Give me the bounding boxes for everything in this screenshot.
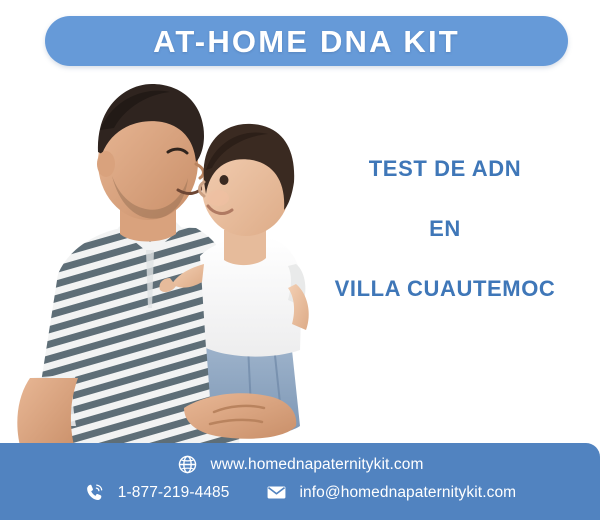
page-title: AT-HOME DNA KIT <box>153 26 460 57</box>
family-photo <box>0 78 320 453</box>
headline-line-2: EN <box>300 218 590 240</box>
website-contact[interactable]: www.homednapaternitykit.com <box>177 454 424 475</box>
headline-line-3: VILLA CUAUTEMOC <box>300 278 590 300</box>
email-label: info@homednapaternitykit.com <box>300 485 517 501</box>
email-contact[interactable]: info@homednapaternitykit.com <box>266 482 517 503</box>
footer-row-phone-email: 1-877-219-4485 info@homednapaternitykit.… <box>0 482 600 503</box>
poster-canvas: AT-HOME DNA KIT <box>0 0 600 520</box>
headline-block: TEST DE ADN EN VILLA CUAUTEMOC <box>300 158 590 300</box>
envelope-icon <box>266 482 287 503</box>
footer-bar: www.homednapaternitykit.com 1-877-219-44… <box>0 443 600 520</box>
phone-contact[interactable]: 1-877-219-4485 <box>84 482 230 503</box>
phone-icon <box>84 482 105 503</box>
phone-label: 1-877-219-4485 <box>118 485 230 501</box>
website-label: www.homednapaternitykit.com <box>211 457 424 473</box>
headline-line-1: TEST DE ADN <box>300 158 590 180</box>
header-banner: AT-HOME DNA KIT <box>45 16 568 66</box>
globe-icon <box>177 454 198 475</box>
footer-row-website: www.homednapaternitykit.com <box>0 454 600 475</box>
